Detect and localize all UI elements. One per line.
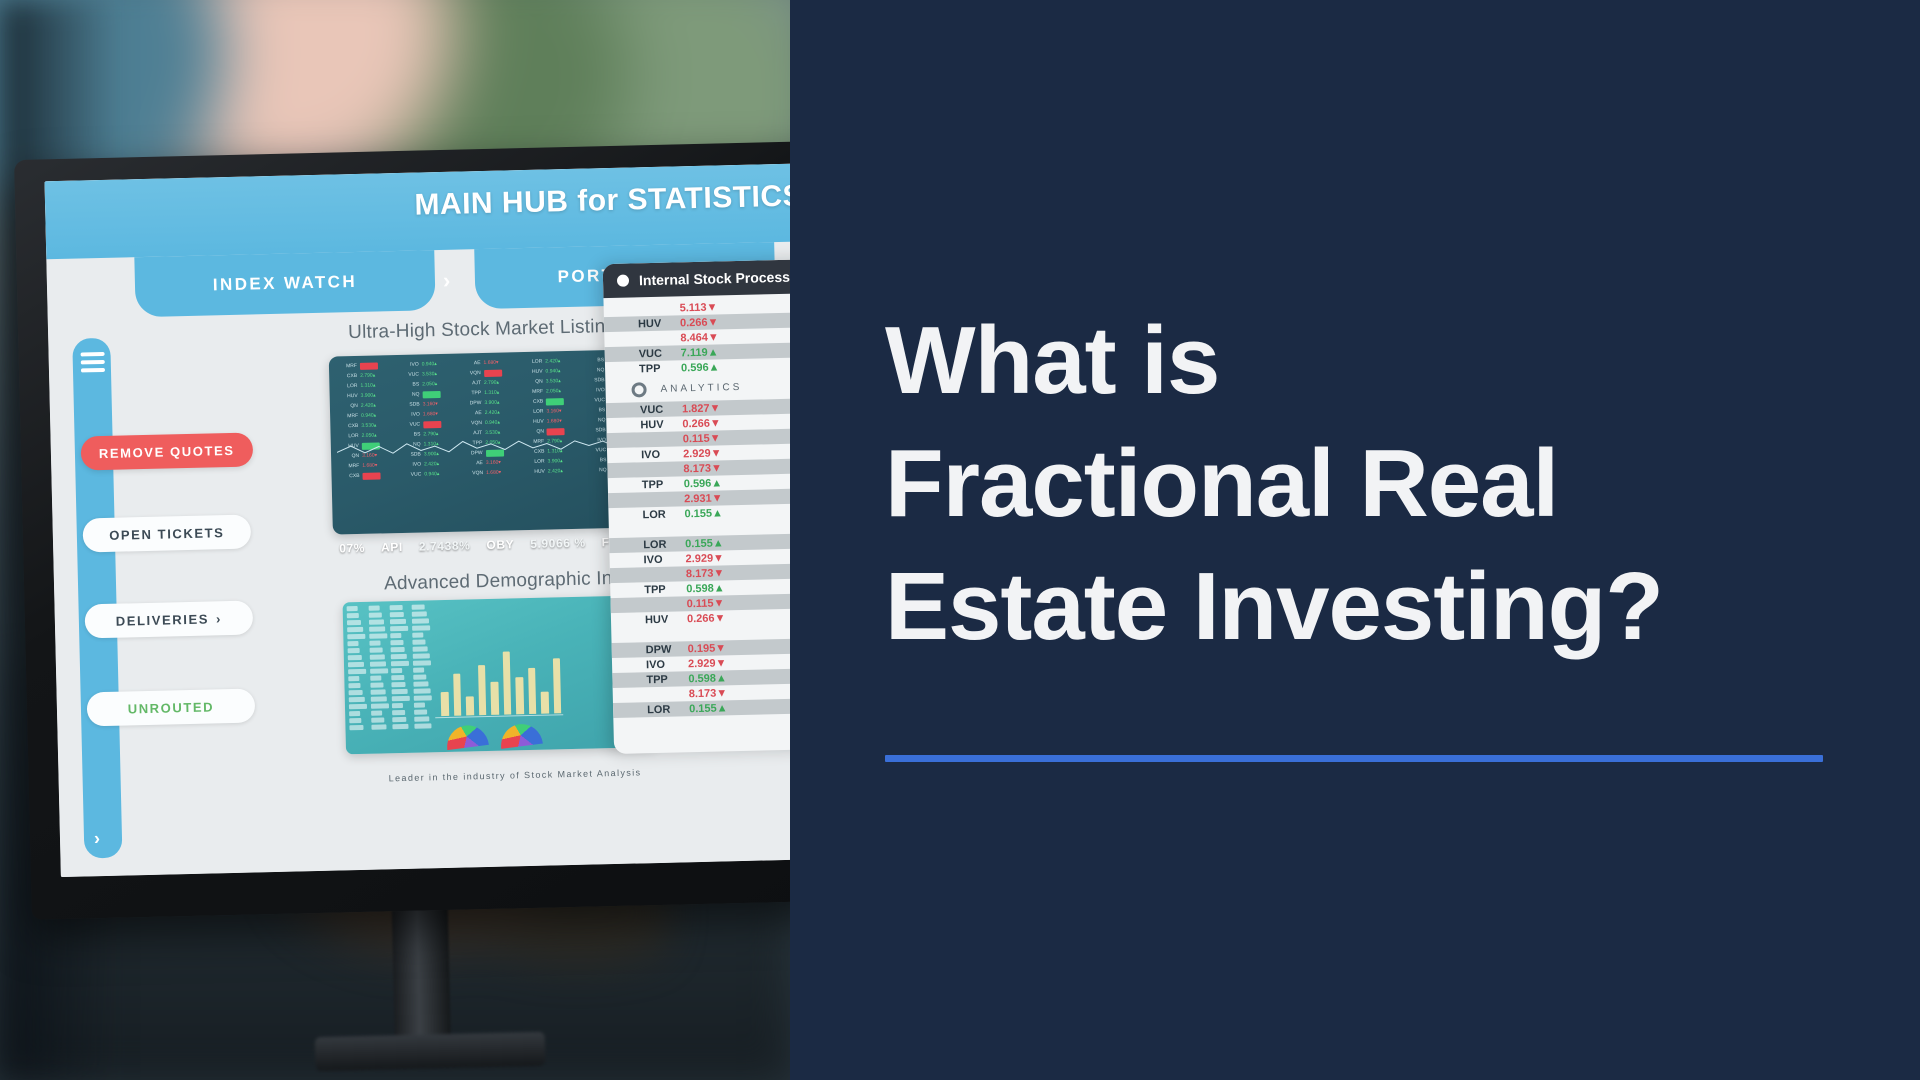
sidebar-expand-icon[interactable]: › (94, 828, 100, 849)
status-dot-icon (617, 275, 629, 287)
pie-chart-icon (498, 722, 542, 749)
headline-line-2: Fractional Real (885, 423, 1885, 546)
stock-value: 3.530▴ (422, 370, 437, 378)
stock-symbol: QN (521, 378, 543, 387)
stock-symbol: TPP (459, 389, 481, 398)
stock-value-block (362, 472, 380, 479)
pie-chart-icon (444, 723, 488, 750)
monitor-stand-neck (392, 902, 451, 1043)
ticker-symbol: HUV (638, 317, 672, 330)
stock-row: AE2.420▴ (460, 408, 519, 417)
stock-symbol: LOR (520, 358, 542, 367)
accent-rule (885, 755, 1823, 762)
ticker-symbol: TPP (642, 478, 676, 491)
stock-row: IVO2.420▴ (399, 460, 458, 469)
stock-value: 3.900▴ (548, 457, 563, 465)
stock-row: CXB3.530▴ (336, 421, 395, 430)
ticker-value: 0.598▲ (688, 672, 727, 685)
bar (528, 668, 537, 714)
tab-index-watch-label: INDEX WATCH (213, 272, 358, 295)
stock-value: 3.900▴ (484, 399, 499, 407)
ticker-value: 0.598▲ (686, 582, 725, 595)
chevron-right-icon: › (443, 268, 451, 294)
stock-value: 3.160▾ (423, 400, 438, 408)
stock-row: CXB (337, 471, 396, 480)
sidebar-item-remove-quotes[interactable]: REMOVE QUOTES (81, 432, 253, 470)
internal-stock-processing-panel: Internal Stock Processing 5.113▼HUV0.266… (603, 257, 790, 754)
stock-value-block (546, 398, 564, 405)
ticker-value: 0.195▼ (688, 642, 727, 655)
sidebar-item-deliveries[interactable]: DELIVERIES › (84, 601, 253, 639)
tick-column (347, 606, 370, 750)
ticker-value: 0.155▲ (689, 702, 728, 715)
stock-value: 2.420▴ (545, 357, 560, 365)
ticker-symbol: DPW (646, 643, 680, 656)
ticker-value: 2.929▼ (683, 447, 722, 460)
ticker-panel-title: Internal Stock Processing (639, 268, 790, 288)
ticker-value: 0.266▼ (682, 417, 721, 430)
ticker-value: 2.931▼ (684, 492, 723, 505)
ticker-value: 8.464▼ (680, 331, 719, 344)
stock-value-block (422, 391, 440, 398)
stock-symbol: NQ (582, 366, 604, 375)
monitor-stand-base (315, 1032, 546, 1071)
stock-row: MRF1.680▾ (337, 461, 396, 470)
ticker-symbol (647, 694, 681, 695)
stock-symbol: CXB (337, 472, 359, 481)
ticker-panel-header: Internal Stock Processing (603, 257, 790, 298)
ticker-symbol (638, 338, 672, 339)
stock-symbol: MRF (335, 362, 357, 371)
stock-value: 0.940▴ (545, 367, 560, 375)
stock-row: IVO1.680▾ (398, 410, 457, 419)
stock-row: AE1.680▾ (458, 358, 517, 367)
ticker-row-list: 5.113▼HUV0.266▼RM8.464▼RUVUC7.119▲TPP0.5… (603, 291, 790, 718)
ticker-value: 2.929▼ (688, 657, 727, 670)
ticker-symbol: VUC (639, 347, 673, 360)
stock-row: QN3.530▴ (521, 377, 580, 386)
stock-symbol: HUV (336, 392, 358, 401)
stock-value: 3.530▴ (546, 377, 561, 385)
stock-value: 2.420▴ (361, 402, 376, 410)
stock-symbol: HUV (522, 418, 544, 427)
stock-row: LOR3.160▾ (521, 407, 580, 416)
ticker-value: 7.119▲ (681, 346, 719, 359)
ticker-symbol (641, 439, 675, 440)
headline-line-1: What is (885, 300, 1885, 423)
page-title: What is Fractional Real Estate Investing… (885, 300, 1885, 669)
stock-value: 1.680▾ (486, 469, 501, 477)
stock-symbol: VQN (459, 369, 481, 378)
title-panel: What is Fractional Real Estate Investing… (790, 0, 1920, 1080)
ticker-symbol: TPP (644, 583, 678, 596)
remove-quotes-label: REMOVE QUOTES (99, 442, 235, 460)
stock-row: VQN1.680▾ (461, 468, 520, 477)
ticker-symbol: HUV (645, 613, 679, 626)
stock-row: QN2.420▴ (336, 401, 395, 410)
demographic-card-heading: Advanced Demographic Info (384, 568, 629, 596)
ticker-symbol: IVO (646, 658, 680, 671)
stock-symbol: IVO (398, 411, 420, 420)
ticker-value: 2.929▼ (685, 552, 724, 565)
stock-symbol: AE (460, 409, 482, 418)
stock-symbol: IVO (583, 386, 605, 395)
stock-row: CXB (521, 397, 580, 406)
headline-line-3: Estate Investing? (885, 546, 1885, 669)
stock-symbol: DPW (459, 399, 481, 408)
stock-symbol: VUC (397, 371, 419, 380)
gear-icon[interactable] (631, 382, 646, 397)
stock-card-heading: Ultra-High Stock Market Listing (348, 316, 617, 344)
tab-index-watch[interactable]: INDEX WATCH (134, 250, 435, 317)
ticker-value: 0.115▼ (687, 597, 725, 610)
stock-value: 1.680▾ (423, 410, 438, 418)
stock-value: 2.050▴ (546, 387, 561, 395)
dashboard-footer-note: Leader in the industry of Stock Market A… (389, 767, 642, 783)
ticker-value: 1.827▼ (682, 402, 721, 415)
stock-symbol: IVO (397, 361, 419, 370)
stock-row: MRF2.050▴ (521, 387, 580, 396)
ticker-symbol: IVO (641, 448, 675, 461)
stock-symbol: HUV (523, 468, 545, 477)
stock-value: 0.940▴ (361, 412, 376, 420)
analytics-label: ANALYTICS (660, 381, 742, 394)
monitor-bezel: MAIN HUB for STATISTICS INDEX WATCH › PO… (14, 141, 790, 920)
chevron-right-icon: › (216, 611, 222, 626)
stock-symbol: MRF (521, 388, 543, 397)
ticker-symbol: TPP (646, 673, 680, 686)
stock-symbol: BS (584, 456, 606, 465)
ticker-value: 8.173▼ (683, 462, 722, 475)
bar (490, 682, 498, 715)
stat-2-label: OBY (486, 537, 514, 552)
stock-value: 3.900▴ (361, 392, 376, 400)
stock-row: NQ (397, 390, 456, 399)
stat-2-value: 5.9066 % (530, 536, 586, 551)
ticker-symbol (645, 604, 679, 605)
stock-row: BS2.050▴ (397, 380, 456, 389)
stock-symbol: LOR (335, 382, 357, 391)
stock-row: AE3.160▾ (461, 458, 520, 467)
stock-symbol: BS (582, 356, 604, 365)
sidebar-item-unrouted[interactable]: UNROUTED (87, 688, 256, 726)
stock-row: HUV3.900▴ (336, 391, 395, 400)
tick-column (368, 605, 391, 749)
stock-row: VUC0.940▴ (399, 470, 458, 479)
stock-row: VQN (459, 368, 518, 377)
computer-monitor: MAIN HUB for STATISTICS INDEX WATCH › PO… (14, 141, 790, 930)
stock-row: VUC (398, 420, 457, 429)
stock-symbol: SDB (398, 401, 420, 410)
sidebar-rail (72, 338, 122, 859)
bar (478, 665, 487, 716)
ticker-symbol: IVO (643, 553, 677, 566)
stock-symbol: AE (461, 459, 483, 468)
tick-column (411, 604, 434, 748)
monitor-screen: MAIN HUB for STATISTICS INDEX WATCH › PO… (45, 163, 790, 877)
deliveries-label: DELIVERIES (116, 611, 210, 628)
stock-value: 0.940▴ (422, 360, 437, 368)
stock-value: 3.160▾ (486, 459, 501, 467)
tick-column (390, 605, 413, 749)
stock-symbol: IVO (399, 460, 421, 469)
stock-symbol: CXB (336, 422, 358, 431)
hamburger-icon[interactable] (81, 352, 105, 373)
stat-1-label: API (381, 540, 403, 555)
demographic-info-card (343, 595, 656, 754)
demographic-data-ticks (347, 604, 434, 750)
stock-row: VQN0.940▴ (460, 418, 519, 427)
stock-symbol: VQN (460, 419, 482, 428)
stock-symbol: MRF (336, 412, 358, 421)
stock-row: LOR1.310▴ (335, 381, 394, 390)
stock-value: 2.420▴ (548, 467, 563, 475)
ticker-value: 0.115▼ (683, 432, 721, 445)
stock-value-block (484, 369, 502, 376)
stock-row: AJT2.790▴ (459, 378, 518, 387)
stock-listing-card: MRFCXB2.790▴LOR1.310▴HUV3.900▴QN2.420▴MR… (329, 349, 651, 534)
bar (441, 691, 449, 716)
office-photo-panel: MAIN HUB for STATISTICS INDEX WATCH › PO… (0, 0, 790, 1080)
stock-symbol: AJT (459, 379, 481, 388)
ticker-value: 0.266▼ (680, 316, 719, 329)
stock-value: 3.160▾ (546, 407, 561, 415)
ticker-value: 0.596▲ (681, 361, 720, 374)
stock-symbol: QN (336, 402, 358, 411)
stock-symbol: SDB (582, 376, 604, 385)
stock-value-block (423, 421, 441, 428)
stock-symbol: NQ (583, 416, 605, 425)
stock-row: LOR2.420▴ (520, 357, 579, 366)
stock-symbol: VUC (399, 470, 421, 479)
stock-value: 0.940▴ (485, 419, 500, 427)
stock-symbol: VQN (461, 469, 483, 478)
stock-symbol: VUC (583, 396, 605, 405)
stock-symbol: NQ (585, 466, 607, 475)
bar (552, 659, 561, 714)
stock-row: MRF (335, 361, 394, 370)
stock-value: 0.940▴ (424, 470, 439, 478)
stock-row: HUV0.940▴ (520, 367, 579, 376)
ticker-value: 8.173▼ (686, 567, 725, 580)
stock-row: SDB3.160▾ (398, 400, 457, 409)
stock-value: 2.420▴ (424, 460, 439, 468)
stock-value: 2.420▴ (485, 409, 500, 417)
unrouted-label: UNROUTED (128, 699, 215, 716)
stock-symbol: LOR (523, 458, 545, 467)
ticker-value: 0.266▼ (687, 612, 726, 625)
stock-value: 2.790▴ (484, 379, 499, 387)
demographic-bar-chart (440, 641, 562, 716)
stock-row: DPW3.900▴ (459, 398, 518, 407)
stat-0-label: 07% (339, 541, 365, 556)
stat-1-value: 2.7438% (419, 538, 471, 553)
stock-symbol: NQ (397, 391, 419, 400)
stock-value: 1.680▾ (483, 359, 498, 367)
ticker-symbol (644, 574, 678, 575)
stock-value: 2.790▴ (360, 372, 375, 380)
ticker-symbol: LOR (647, 703, 681, 716)
stock-symbol: AE (458, 359, 480, 368)
ticker-symbol: LOR (642, 508, 676, 521)
sidebar-item-open-tickets[interactable]: OPEN TICKETS (82, 515, 251, 553)
stock-value: 1.680▾ (362, 462, 377, 470)
ticker-value: 0.155▲ (684, 507, 723, 520)
ticker-value: 5.113▼ (680, 301, 718, 314)
stock-symbol: VUC (398, 421, 420, 430)
ticker-value: 0.596▲ (684, 477, 723, 490)
stock-value: 1.680▾ (547, 417, 562, 425)
ticker-value: 0.155▲ (685, 537, 724, 550)
ticker-value: 8.173▼ (689, 687, 728, 700)
ticker-symbol: HUV (640, 418, 674, 431)
stock-row: HUV1.680▾ (522, 417, 581, 426)
stock-value: 1.310▴ (484, 389, 499, 397)
stock-row: LOR3.900▴ (523, 457, 582, 466)
bar (502, 651, 511, 715)
ticker-symbol (642, 499, 676, 500)
ticker-symbol: LOR (643, 538, 677, 551)
stock-row: VUC3.530▴ (397, 370, 456, 379)
stock-row: HUV2.420▴ (523, 467, 582, 476)
stock-symbol: HUV (520, 368, 542, 377)
stock-row: MRF0.940▴ (336, 411, 395, 420)
stock-value: 3.530▴ (361, 422, 376, 430)
stock-symbol: BS (397, 381, 419, 390)
stock-dashboard: MAIN HUB for STATISTICS INDEX WATCH › PO… (45, 163, 790, 877)
stock-row: IVO0.940▴ (397, 360, 456, 369)
stock-row: TPP1.310▴ (459, 388, 518, 397)
bar (453, 674, 461, 716)
demographic-pie-charts (445, 724, 541, 748)
stock-symbol: CXB (521, 398, 543, 407)
bar (541, 692, 549, 714)
stock-symbol: LOR (521, 408, 543, 417)
ticker-symbol: VUC (640, 403, 674, 416)
stock-value: 1.310▴ (360, 382, 375, 390)
stock-symbol: CXB (335, 372, 357, 381)
bar (515, 677, 523, 715)
stock-symbol: BS (583, 406, 605, 415)
bar (466, 697, 474, 716)
open-tickets-label: OPEN TICKETS (109, 525, 225, 543)
stock-value-block (360, 362, 378, 369)
stock-symbol: MRF (337, 462, 359, 471)
stock-row: CXB2.790▴ (335, 371, 394, 380)
stock-value: 2.050▴ (422, 380, 437, 388)
ticker-symbol (638, 308, 672, 309)
ticker-symbol: TPP (639, 362, 673, 375)
ticker-symbol (641, 469, 675, 470)
